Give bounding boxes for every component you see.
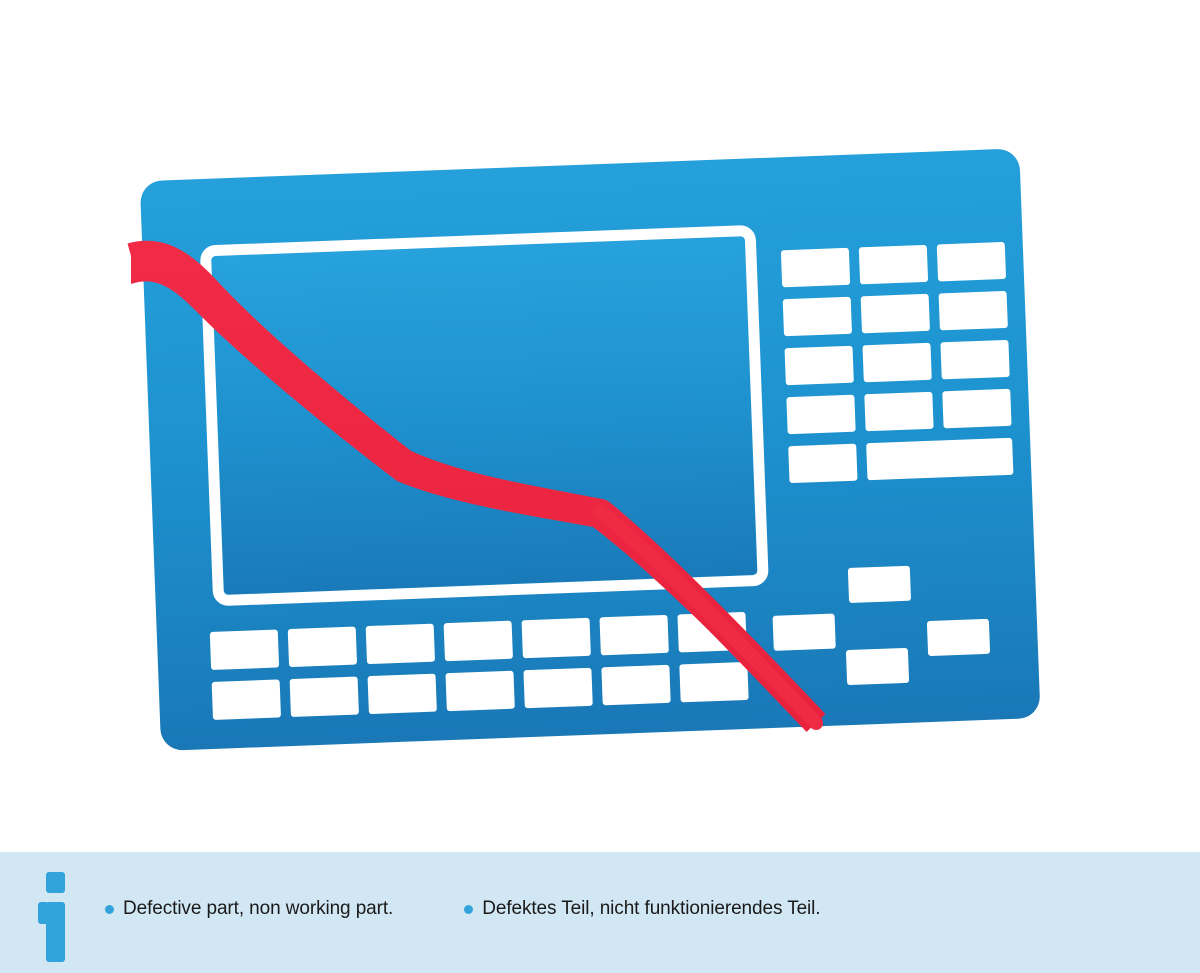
note-text-de: Defektes Teil, nicht funktionierendes Te… bbox=[482, 898, 820, 920]
keypad-key[interactable] bbox=[862, 343, 931, 383]
keypad-key[interactable] bbox=[783, 297, 852, 337]
keypad-key[interactable] bbox=[859, 245, 928, 285]
keyboard-key[interactable] bbox=[368, 674, 437, 715]
illustration-area bbox=[0, 0, 1200, 852]
keypad-key[interactable] bbox=[861, 294, 930, 334]
keypad-key[interactable] bbox=[942, 389, 1011, 429]
keypad-key[interactable] bbox=[785, 346, 854, 386]
info-icon-stem bbox=[46, 902, 65, 962]
keyboard-key[interactable] bbox=[599, 615, 668, 656]
keypad-enter-key[interactable] bbox=[866, 438, 1013, 480]
keyboard-key[interactable] bbox=[523, 668, 592, 709]
keyboard-key[interactable] bbox=[366, 624, 435, 665]
keypad-key[interactable] bbox=[937, 242, 1006, 282]
keyboard-key[interactable] bbox=[444, 621, 513, 662]
note-item-en: Defective part, non working part. bbox=[105, 898, 393, 920]
control-terminal-illustration bbox=[0, 0, 1200, 852]
keyboard-key[interactable] bbox=[679, 662, 748, 703]
keyboard-key[interactable] bbox=[522, 618, 591, 659]
keyboard-key[interactable] bbox=[212, 679, 281, 720]
info-icon-dot bbox=[46, 872, 65, 893]
bullet-icon bbox=[464, 905, 473, 914]
bullet-icon bbox=[105, 905, 114, 914]
numeric-keypad[interactable] bbox=[781, 242, 1014, 483]
keypad-key[interactable] bbox=[786, 395, 855, 435]
keypad-key[interactable] bbox=[939, 291, 1008, 331]
keyboard-key[interactable] bbox=[601, 665, 670, 706]
footer-note-bar: Defective part, non working part. Defekt… bbox=[0, 852, 1200, 973]
arrow-down-key[interactable] bbox=[846, 648, 909, 685]
keypad-key[interactable] bbox=[781, 248, 850, 288]
keypad-key[interactable] bbox=[864, 392, 933, 432]
keypad-key[interactable] bbox=[940, 340, 1009, 380]
arrow-up-key[interactable] bbox=[848, 566, 911, 603]
keyboard-key[interactable] bbox=[288, 627, 357, 668]
keyboard-key[interactable] bbox=[290, 677, 359, 718]
keyboard-key[interactable] bbox=[445, 671, 514, 712]
arrow-left-key[interactable] bbox=[773, 614, 836, 651]
page-root: Defective part, non working part. Defekt… bbox=[0, 0, 1200, 973]
arrow-right-key[interactable] bbox=[927, 619, 990, 656]
keypad-key[interactable] bbox=[788, 444, 857, 484]
device-group bbox=[140, 148, 1041, 751]
keyboard-key[interactable] bbox=[210, 629, 279, 670]
screen-display bbox=[212, 237, 757, 595]
note-item-de: Defektes Teil, nicht funktionierendes Te… bbox=[464, 898, 820, 920]
note-list: Defective part, non working part. Defekt… bbox=[105, 898, 820, 920]
note-text-en: Defective part, non working part. bbox=[123, 898, 393, 920]
info-icon bbox=[38, 872, 68, 962]
